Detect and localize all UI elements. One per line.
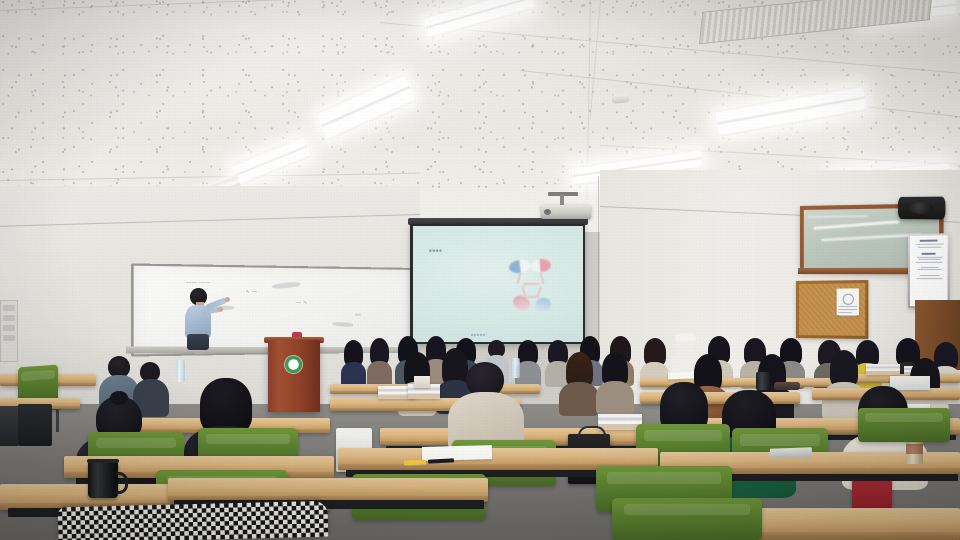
tissue-box xyxy=(890,376,930,390)
thermos xyxy=(756,372,770,390)
tissue-box xyxy=(414,376,430,388)
highlighter xyxy=(404,460,426,466)
desk-side-panel xyxy=(0,406,18,446)
checkered-coat xyxy=(58,501,329,540)
water-bottle xyxy=(176,360,185,382)
water-bottle xyxy=(512,358,520,378)
paper-sheet xyxy=(668,372,694,380)
hair-bun xyxy=(110,391,128,405)
student-desk xyxy=(168,478,488,502)
book-stack xyxy=(866,364,900,375)
can-label xyxy=(906,444,923,454)
tumbler-lid xyxy=(87,459,119,463)
desk-side-panel xyxy=(18,404,52,446)
stapler xyxy=(770,447,812,458)
pencil-case xyxy=(774,382,800,390)
classroom-photo: —— —— ∿ — — ∿ ≈≈ ■■■■ ■■■■■ xyxy=(0,0,960,540)
bag-handle xyxy=(578,426,606,438)
cap xyxy=(675,333,696,341)
black-tumbler xyxy=(88,462,118,498)
